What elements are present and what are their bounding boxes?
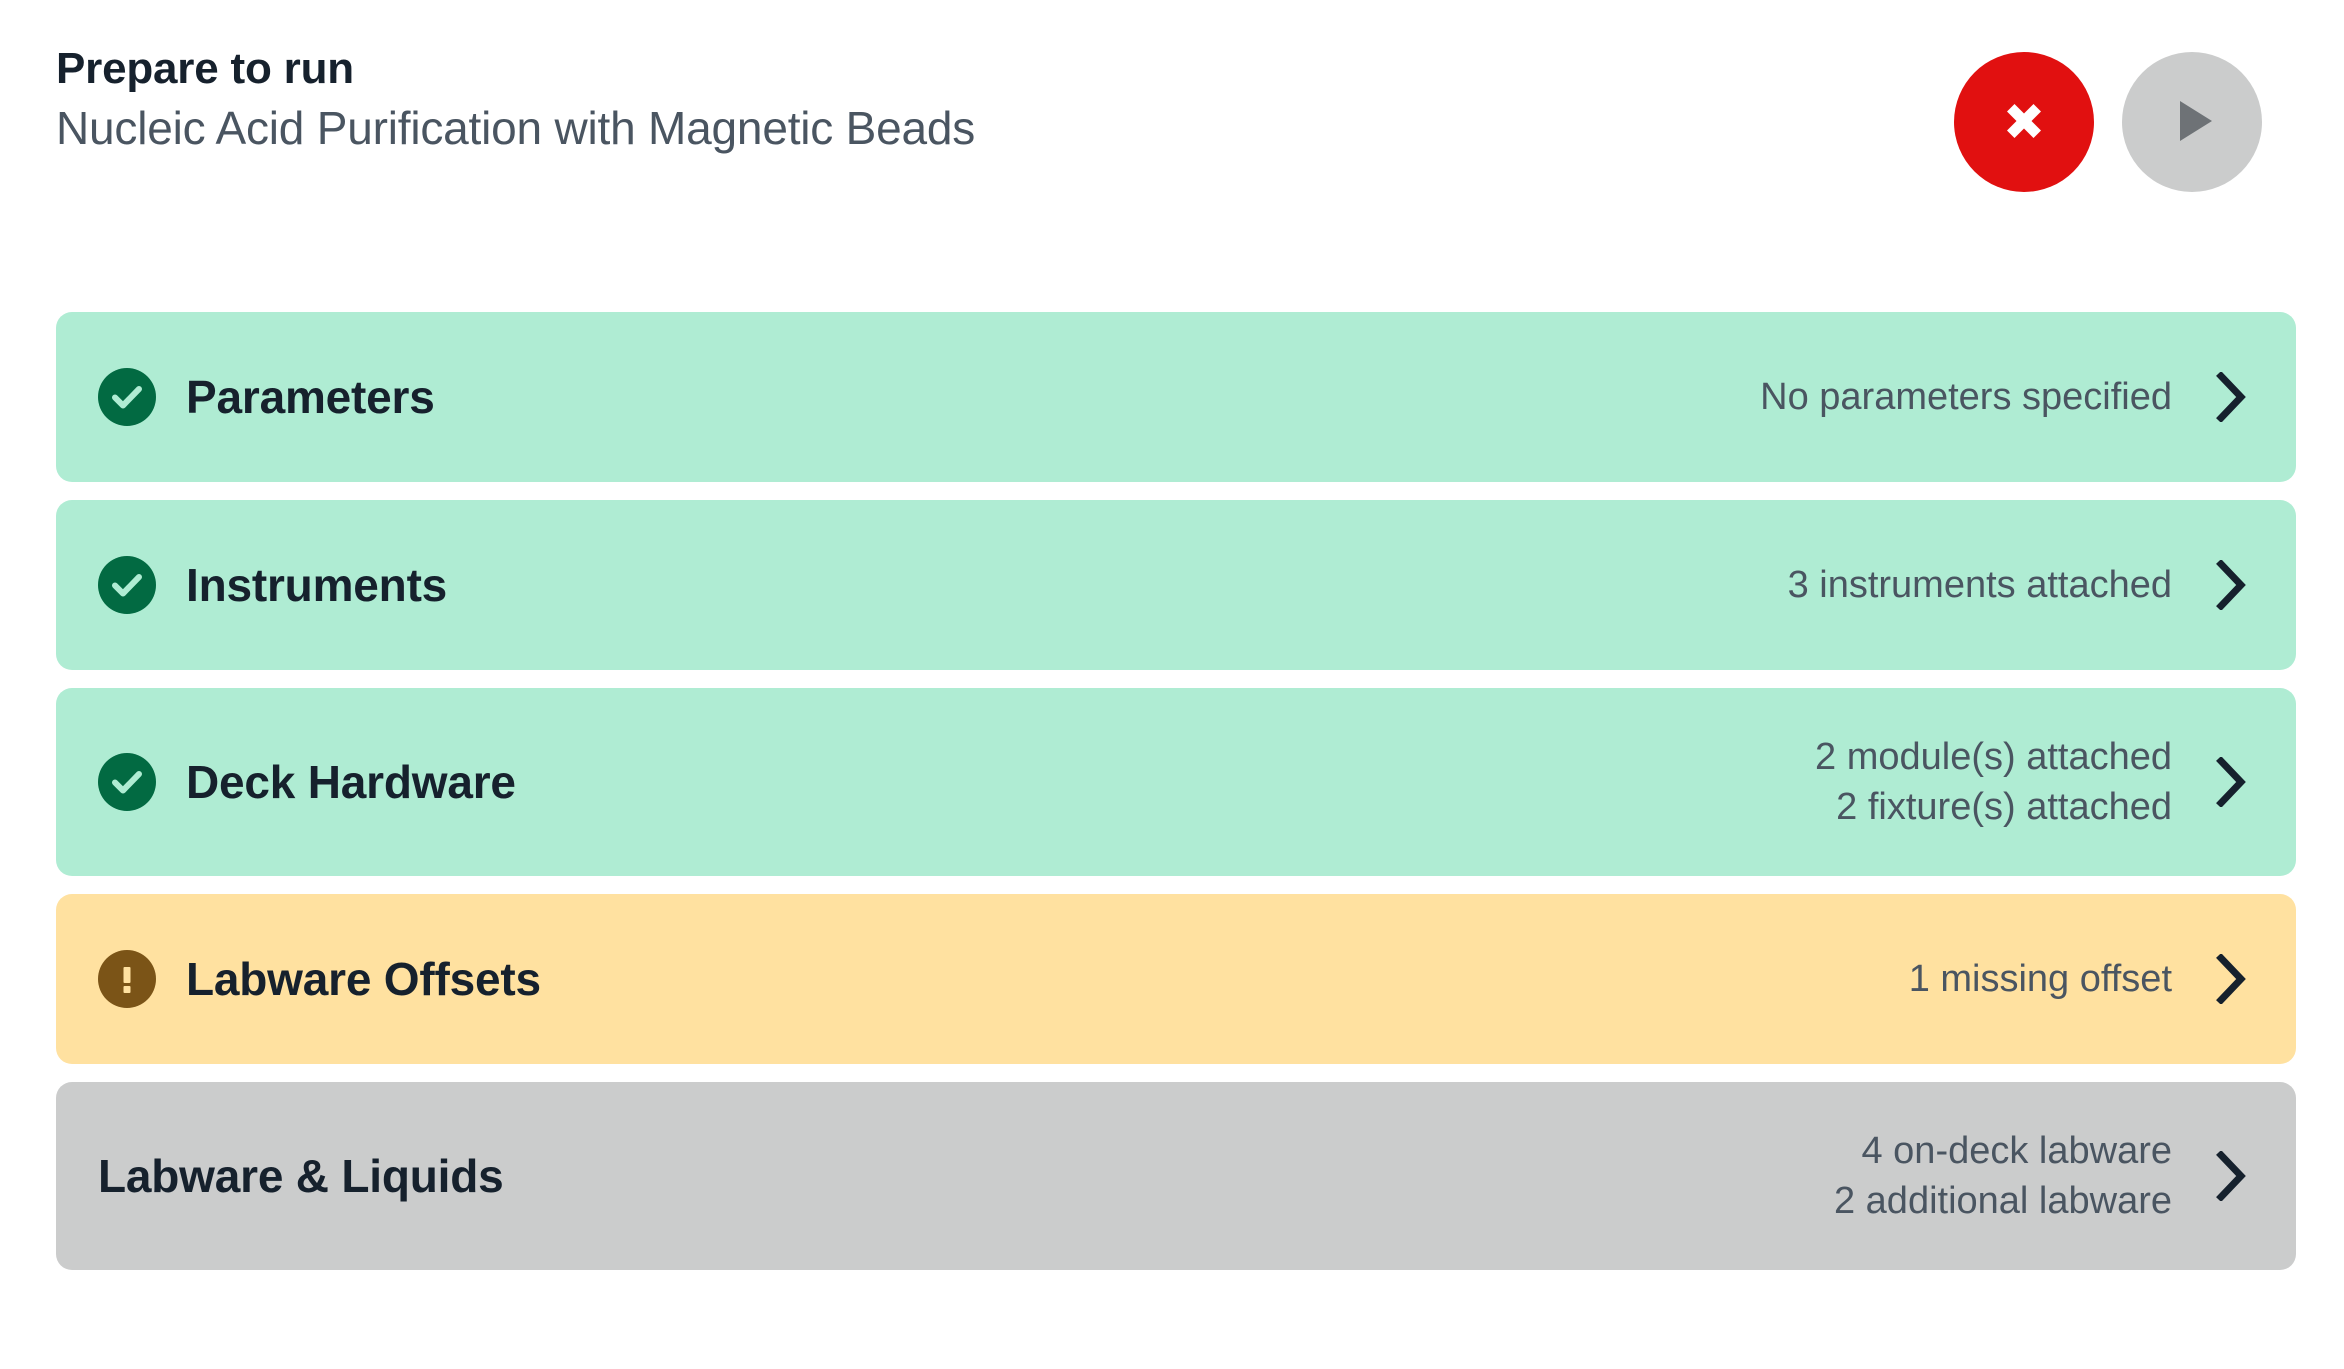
setup-row-title: Parameters bbox=[186, 370, 435, 424]
detail-line: 1 missing offset bbox=[1909, 954, 2172, 1004]
row-left-labware-offsets: Labware Offsets bbox=[98, 950, 1909, 1008]
run-setup-list: Parameters No parameters specified bbox=[56, 312, 2296, 1270]
protocol-name: Nucleic Acid Purification with Magnetic … bbox=[56, 101, 975, 156]
detail-line: No parameters specified bbox=[1760, 372, 2172, 422]
chevron-right-icon[interactable] bbox=[2214, 953, 2248, 1005]
setup-row-title: Instruments bbox=[186, 558, 447, 612]
row-left-labware-and-liquids: Labware & Liquids bbox=[98, 1149, 1834, 1203]
detail-line: 4 on-deck labware bbox=[1861, 1126, 2172, 1176]
header-text-block: Prepare to run Nucleic Acid Purification… bbox=[56, 44, 975, 156]
row-left-instruments: Instruments bbox=[98, 556, 1788, 614]
close-x-icon bbox=[1988, 85, 2060, 160]
setup-row-detail: 3 instruments attached bbox=[1788, 560, 2172, 610]
setup-row-parameters[interactable]: Parameters No parameters specified bbox=[56, 312, 2296, 482]
start-run-button[interactable] bbox=[2122, 52, 2262, 192]
row-left-parameters: Parameters bbox=[98, 368, 1760, 426]
detail-line: 2 additional labware bbox=[1834, 1176, 2172, 1226]
check-circle-icon bbox=[98, 753, 156, 811]
row-right-labware-offsets: 1 missing offset bbox=[1909, 953, 2248, 1005]
check-circle-icon bbox=[98, 368, 156, 426]
setup-row-title: Labware & Liquids bbox=[98, 1149, 504, 1203]
setup-row-labware-and-liquids[interactable]: Labware & Liquids 4 on-deck labware 2 ad… bbox=[56, 1082, 2296, 1270]
row-left-deck-hardware: Deck Hardware bbox=[98, 753, 1815, 811]
screen-header: Prepare to run Nucleic Acid Purification… bbox=[0, 0, 2344, 300]
setup-row-deck-hardware[interactable]: Deck Hardware 2 module(s) attached 2 fix… bbox=[56, 688, 2296, 876]
setup-row-title: Labware Offsets bbox=[186, 952, 541, 1006]
chevron-right-icon[interactable] bbox=[2214, 371, 2248, 423]
row-right-deck-hardware: 2 module(s) attached 2 fixture(s) attach… bbox=[1815, 732, 2248, 832]
check-circle-icon bbox=[98, 556, 156, 614]
detail-line: 3 instruments attached bbox=[1788, 560, 2172, 610]
alert-circle-icon bbox=[98, 950, 156, 1008]
row-right-parameters: No parameters specified bbox=[1760, 371, 2248, 423]
chevron-right-icon[interactable] bbox=[2214, 756, 2248, 808]
page-title: Prepare to run bbox=[56, 44, 975, 95]
close-run-setup-button[interactable] bbox=[1954, 52, 2094, 192]
prepare-to-run-screen: Prepare to run Nucleic Acid Purification… bbox=[0, 0, 2344, 1369]
detail-line: 2 fixture(s) attached bbox=[1836, 782, 2172, 832]
row-right-labware-and-liquids: 4 on-deck labware 2 additional labware bbox=[1834, 1126, 2248, 1226]
play-triangle-icon bbox=[2160, 89, 2224, 156]
setup-row-instruments[interactable]: Instruments 3 instruments attached bbox=[56, 500, 2296, 670]
chevron-right-icon[interactable] bbox=[2214, 1150, 2248, 1202]
chevron-right-icon[interactable] bbox=[2214, 559, 2248, 611]
detail-line: 2 module(s) attached bbox=[1815, 732, 2172, 782]
setup-row-detail: 4 on-deck labware 2 additional labware bbox=[1834, 1126, 2172, 1226]
setup-row-detail: No parameters specified bbox=[1760, 372, 2172, 422]
row-right-instruments: 3 instruments attached bbox=[1788, 559, 2248, 611]
setup-row-labware-offsets[interactable]: Labware Offsets 1 missing offset bbox=[56, 894, 2296, 1064]
setup-row-title: Deck Hardware bbox=[186, 755, 516, 809]
setup-row-detail: 1 missing offset bbox=[1909, 954, 2172, 1004]
setup-row-detail: 2 module(s) attached 2 fixture(s) attach… bbox=[1815, 732, 2172, 832]
header-actions bbox=[1954, 52, 2272, 192]
